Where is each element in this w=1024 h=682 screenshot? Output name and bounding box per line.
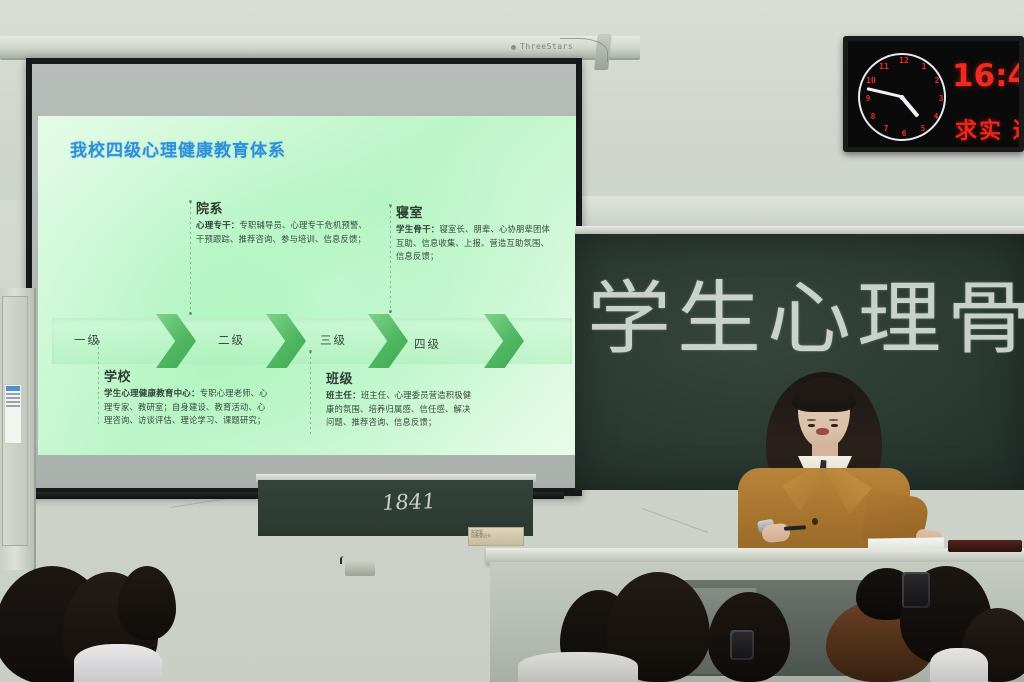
leader-line <box>98 342 99 426</box>
block-heading: 寝室 <box>396 202 556 221</box>
clock-number-7: 7 <box>880 124 892 133</box>
block-text: 心理专干：专职辅导员、心理专干危机预警、干预跟踪、推荐咨询、参与培训、信息反馈； <box>196 219 372 246</box>
clock-number-1: 1 <box>918 62 930 71</box>
presenter <box>724 372 924 562</box>
level-label-3: 三级 <box>320 332 347 348</box>
blackboard-top-rail <box>575 226 1024 234</box>
block-lead: 班主任： <box>326 391 361 401</box>
clock-number-6: 6 <box>898 129 910 138</box>
slide-block-class: 班级 班主任：班主任、心理委员营造积极健康的氛围、培养归属感、信任感、解决问题、… <box>326 368 478 428</box>
block-lead: 学生骨干： <box>396 225 440 235</box>
clock-number-4: 4 <box>930 112 942 121</box>
desk-papers <box>868 537 944 550</box>
slide-title: 我校四级心理健康教育体系 <box>70 136 286 161</box>
block-text: 学生心理健康教育中心：专职心理老师、心理专家、教研室；自身建设、教育活动、心理咨… <box>104 387 272 426</box>
block-heading: 院系 <box>196 198 372 217</box>
clock-number-10: 10 <box>865 76 877 85</box>
block-text: 学生骨干：寝室长、朋辈、心协朋辈团体互助、信息收集、上报、营造互助氛围、信息反馈… <box>396 223 556 262</box>
block-heading: 班级 <box>326 368 478 387</box>
leader-dot <box>97 340 100 343</box>
leader-dot <box>309 350 312 353</box>
block-heading: 学校 <box>104 366 272 385</box>
clock-number-2: 2 <box>931 76 943 85</box>
leader-dot <box>189 200 192 203</box>
equipment-tag-card: 实验室 设备登记卡 <box>468 527 524 546</box>
blackboard-chalk-text: 学生心理骨 <box>587 255 1024 370</box>
clock-hour-hand <box>901 96 920 117</box>
clock-center-pin <box>900 95 905 100</box>
desk-object <box>948 540 1022 552</box>
level-label-2: 二级 <box>218 332 245 348</box>
presentation-slide: 我校四级心理健康教育体系 院系 心理专干：专职辅导员、心理专干危机预警、干预跟踪… <box>38 116 576 455</box>
presenter-eyebrow-left <box>807 419 816 421</box>
audience-shoulder <box>74 644 162 682</box>
audience-shoulder <box>930 648 988 682</box>
presenter-coat-button <box>812 518 818 525</box>
classroom-scene: ThreeStars 我校四级心理健康教育体系 院系 心理专干：专职辅导员、心理… <box>0 0 1024 682</box>
block-text: 班主任：班主任、心理委员营造积极健康的氛围、培养归属感、信任感、解决问题、推荐咨… <box>326 389 478 428</box>
leader-line <box>190 202 191 314</box>
slide-block-department: 院系 心理专干：专职辅导员、心理专干危机预警、干预跟踪、推荐咨询、参与培训、信息… <box>196 198 372 246</box>
presenter-eye-left <box>808 424 815 427</box>
led-motto-text: 求实 进 <box>955 113 1024 145</box>
analog-clock-face: 12 1 2 3 4 5 6 7 8 9 10 11 <box>858 53 946 141</box>
block-lead: 学生心理健康教育中心： <box>104 389 200 399</box>
clock-number-11: 11 <box>878 62 890 71</box>
presenter-mouth <box>816 428 829 435</box>
hair-clip <box>902 572 930 608</box>
level-flow-diagram: 一级 二级 三级 四级 <box>52 312 572 370</box>
block-lead: 心理专干： <box>196 221 240 231</box>
audience-shoulder <box>518 652 638 682</box>
cabinet-label-sticker <box>4 384 22 444</box>
clock-number-9: 9 <box>862 94 874 103</box>
led-wall-clock: 12 1 2 3 4 5 6 7 8 9 10 11 16:47 求实 进 <box>843 36 1024 152</box>
slide-block-school: 学校 学生心理健康教育中心：专职心理老师、心理专家、教研室；自身建设、教育活动、… <box>104 366 272 426</box>
screen-surface: 我校四级心理健康教育体系 院系 心理专干：专职辅导员、心理专干危机预警、干预跟踪… <box>32 64 576 488</box>
hair-clip <box>730 630 754 660</box>
equipment-tag-line2: 设备登记卡 <box>471 533 491 538</box>
slide-block-dormitory: 寝室 学生骨干：寝室长、朋辈、心协朋辈团体互助、信息收集、上报、营造互助氛围、信… <box>396 202 556 262</box>
clock-number-3: 3 <box>935 94 947 103</box>
clock-number-8: 8 <box>867 112 879 121</box>
clock-number-12: 12 <box>898 56 910 65</box>
digital-time-display: 16:47 <box>952 58 1024 94</box>
projection-screen: 我校四级心理健康教育体系 院系 心理专干：专职辅导员、心理专干危机预警、干预跟踪… <box>26 58 582 496</box>
blackboard-number-text: 1841 <box>381 489 437 515</box>
wall-trim-band <box>575 196 1024 226</box>
leader-line <box>390 206 391 314</box>
wall-cabinet[interactable] <box>0 288 36 570</box>
level-label-4: 四级 <box>414 336 441 352</box>
presenter-eyebrow-right <box>829 419 838 421</box>
clock-number-5: 5 <box>917 124 929 133</box>
leader-dot <box>389 204 392 207</box>
brand-logo-icon <box>511 45 516 50</box>
device-cord <box>340 556 350 564</box>
leader-line <box>310 352 311 434</box>
presenter-eye-right <box>831 424 838 427</box>
